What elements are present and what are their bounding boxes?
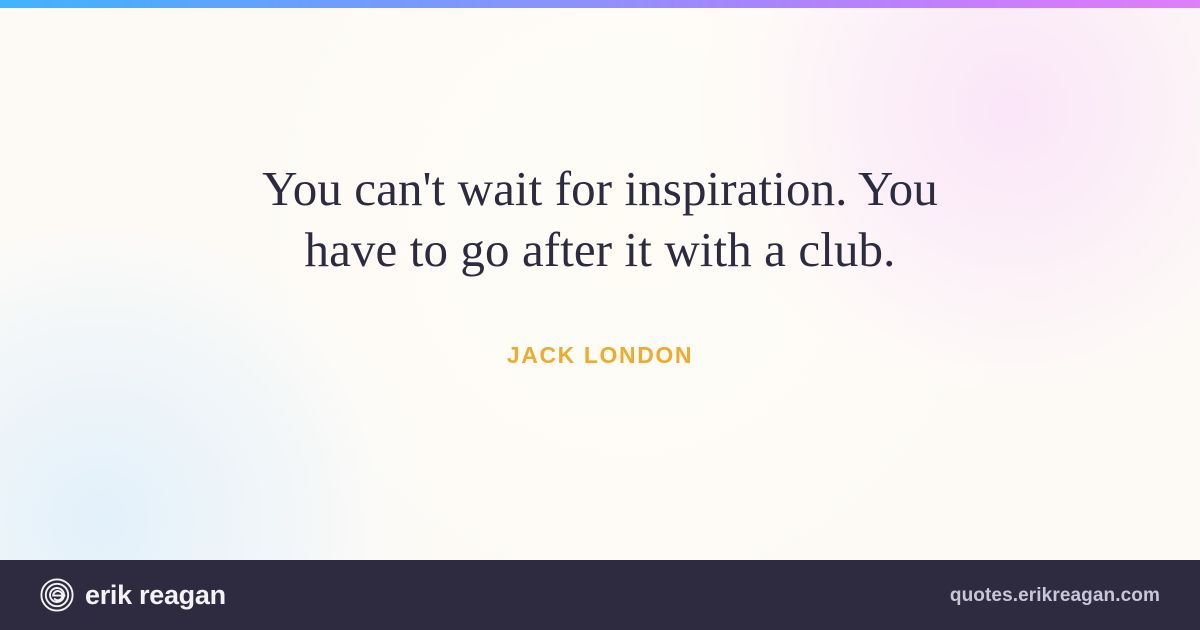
site-url[interactable]: quotes.erikreagan.com	[950, 586, 1160, 605]
brand-name: erik reagan	[85, 582, 226, 609]
quote-text: You can't wait for inspiration. You have…	[220, 158, 980, 280]
quote-author: JACK LONDON	[507, 342, 693, 369]
footer-bar: erik reagan quotes.erikreagan.com	[0, 560, 1200, 630]
top-gradient-bar	[0, 0, 1200, 8]
quote-stage: You can't wait for inspiration. You have…	[0, 8, 1200, 560]
brand-lockup[interactable]: erik reagan	[40, 578, 226, 612]
concentric-circles-e-logo-icon	[40, 578, 74, 612]
quote-card: You can't wait for inspiration. You have…	[0, 0, 1200, 630]
